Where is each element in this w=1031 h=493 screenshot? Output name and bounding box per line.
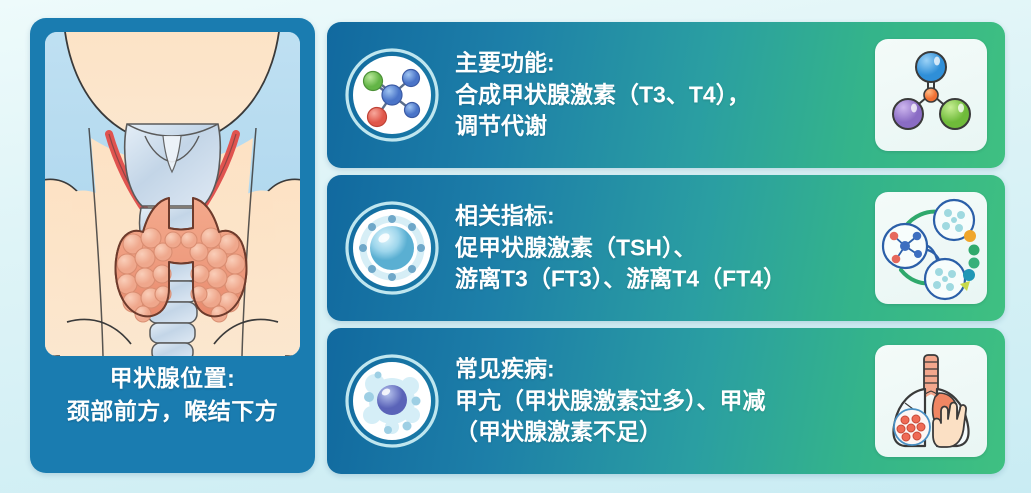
card-text-common-diseases: 常见疾病: 甲亢（甲状腺激素过多）、甲减 （甲状腺激素不足） xyxy=(455,353,855,448)
info-card-common-diseases[interactable]: 常见疾病: 甲亢（甲状腺激素过多）、甲减 （甲状腺激素不足） xyxy=(327,328,1005,474)
card-heading: 相关指标: xyxy=(455,200,855,232)
thyroid-location-panel: 甲状腺位置: 颈部前方，喉结下方 xyxy=(30,18,315,473)
thyroid-hormone-molecule-icon xyxy=(875,39,987,151)
card-text-related-indicators: 相关指标: 促甲状腺激素（TSH）、 游离T3（FT3）、游离T4（FT4） xyxy=(455,200,855,295)
card-line-1: 促甲状腺激素（TSH）、 xyxy=(455,232,855,264)
caption-line-1: 甲状腺位置: xyxy=(30,362,315,395)
info-card-main-function[interactable]: 主要功能: 合成甲状腺激素（T3、T4）， 调节代谢 xyxy=(327,22,1005,168)
cell-receptor-icon xyxy=(344,200,440,296)
card-line-1: 合成甲状腺激素（T3、T4）， xyxy=(455,79,855,111)
info-card-related-indicators[interactable]: 相关指标: 促甲状腺激素（TSH）、 游离T3（FT3）、游离T4（FT4） xyxy=(327,175,1005,321)
card-line-2: 调节代谢 xyxy=(455,111,855,143)
caption-line-2: 颈部前方，喉结下方 xyxy=(30,395,315,428)
card-text-main-function: 主要功能: 合成甲状腺激素（T3、T4）， 调节代谢 xyxy=(455,47,855,142)
card-line-1: 甲亢（甲状腺激素过多）、甲减 xyxy=(455,385,855,417)
card-line-2: （甲状腺激素不足） xyxy=(455,417,855,449)
thyroid-anatomy-illustration xyxy=(45,32,300,356)
lungs-examination-icon xyxy=(875,345,987,457)
hormone-feedback-loop-icon xyxy=(875,192,987,304)
cell-nucleus-icon xyxy=(344,353,440,449)
card-heading: 主要功能: xyxy=(455,47,855,79)
thyroid-location-caption: 甲状腺位置: 颈部前方，喉结下方 xyxy=(30,362,315,427)
card-heading: 常见疾病: xyxy=(455,353,855,385)
molecule-icon xyxy=(344,47,440,143)
card-line-2: 游离T3（FT3）、游离T4（FT4） xyxy=(455,264,855,296)
